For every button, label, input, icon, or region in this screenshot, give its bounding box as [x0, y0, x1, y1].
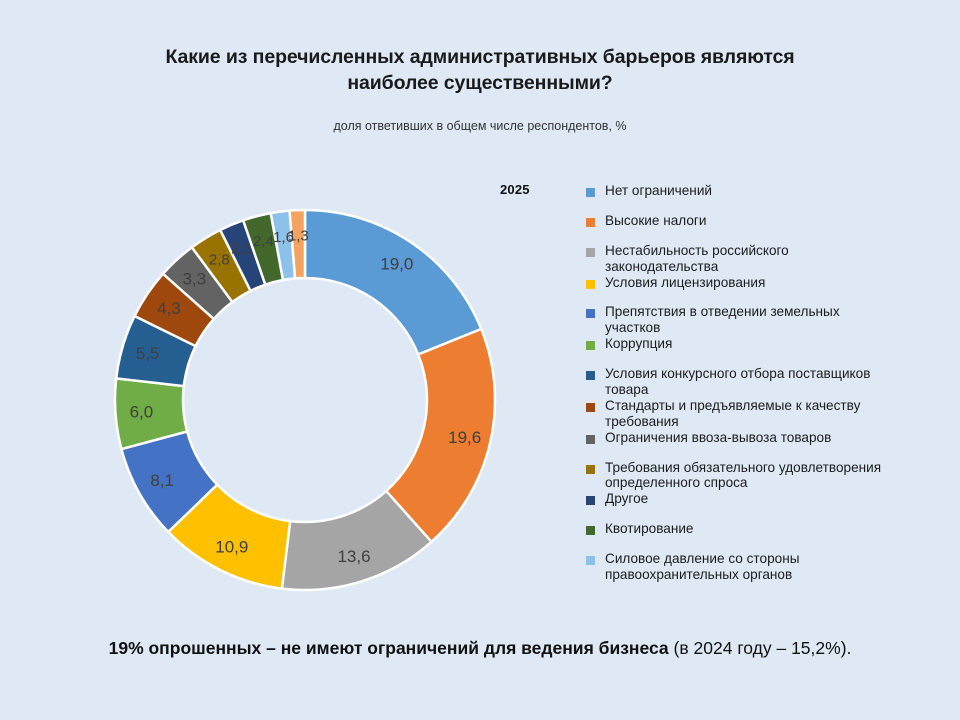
donut-slice-value-label: 6,0	[130, 403, 154, 422]
legend-color-swatch-icon	[586, 465, 595, 474]
legend-color-swatch-icon	[586, 248, 595, 257]
legend-item[interactable]: Стандарты и предъявляемые к качеству тре…	[586, 398, 958, 430]
legend-item-label: Квотирование	[605, 521, 958, 537]
legend-item[interactable]: Нет ограничений	[586, 183, 958, 199]
legend-item[interactable]: Высокие налоги	[586, 213, 958, 229]
donut-slice-value-label: 19,6	[448, 428, 481, 447]
legend-item-label: Коррупция	[605, 336, 958, 352]
legend-item[interactable]: Коррупция	[586, 336, 958, 352]
donut-slice-value-label: 8,1	[150, 471, 174, 490]
legend-color-swatch-icon	[586, 556, 595, 565]
legend-item-label: Другое	[605, 491, 958, 507]
legend-item-label: Силовое давление со стороны правоохранит…	[605, 551, 958, 583]
donut-slice-value-label: 13,6	[337, 547, 370, 566]
donut-slices	[115, 210, 495, 590]
legend-color-swatch-icon	[586, 280, 595, 289]
legend-item-label: Высокие налоги	[605, 213, 958, 229]
legend-color-swatch-icon	[586, 341, 595, 350]
title-block: Какие из перечисленных административных …	[150, 44, 810, 133]
donut-slice-value-label: 2,1	[231, 240, 252, 257]
donut-chart: 19,019,613,610,98,16,05,54,33,32,82,12,4…	[95, 190, 515, 610]
legend-item-label: Требования обязательного удовлетворения …	[605, 460, 958, 492]
legend-color-swatch-icon	[586, 403, 595, 412]
legend-item-label: Условия конкурсного отбора поставщиков т…	[605, 366, 958, 398]
legend-color-swatch-icon	[586, 526, 595, 535]
slide-canvas: Какие из перечисленных административных …	[0, 0, 960, 720]
legend-item[interactable]: Условия лицензирования	[586, 275, 958, 291]
legend-item[interactable]: Другое	[586, 491, 958, 507]
legend-item-label: Нет ограничений	[605, 183, 958, 199]
donut-slice-value-label: 3,3	[182, 270, 206, 289]
legend-item[interactable]: Условия конкурсного отбора поставщиков т…	[586, 366, 958, 398]
legend-item[interactable]: Ограничения ввоза-вывоза товаров	[586, 430, 958, 446]
donut-slice-value-label: 5,5	[136, 344, 160, 363]
donut-slice-value-label: 2,4	[253, 233, 274, 250]
donut-slice-value-label: 4,3	[157, 299, 181, 318]
legend-item-label: Ограничения ввоза-вывоза товаров	[605, 430, 958, 446]
footer-bold-text: 19% опрошенных – не имеют ограничений дл…	[109, 638, 669, 658]
legend-color-swatch-icon	[586, 435, 595, 444]
legend-color-swatch-icon	[586, 371, 595, 380]
legend-item[interactable]: Препятствия в отведении земельных участк…	[586, 304, 958, 336]
chart-subtitle: доля ответивших в общем числе респондент…	[150, 119, 810, 133]
legend-color-swatch-icon	[586, 496, 595, 505]
donut-slice-value-label: 1,3	[288, 228, 309, 245]
footer-normal-text: (в 2024 году – 15,2%).	[669, 638, 852, 658]
legend-item[interactable]: Требования обязательного удовлетворения …	[586, 460, 958, 492]
legend-color-swatch-icon	[586, 309, 595, 318]
donut-slice-value-label: 2,8	[209, 252, 230, 269]
donut-slice[interactable]	[305, 210, 481, 354]
legend-color-swatch-icon	[586, 188, 595, 197]
donut-slice-value-label: 19,0	[380, 255, 413, 274]
legend-item[interactable]: Силовое давление со стороны правоохранит…	[586, 551, 958, 583]
footer-caption: 19% опрошенных – не имеют ограничений дл…	[0, 638, 960, 659]
donut-chart-svg: 19,019,613,610,98,16,05,54,33,32,82,12,4…	[95, 190, 515, 610]
legend-item[interactable]: Нестабильность российского законодательс…	[586, 243, 958, 275]
page-title: Какие из перечисленных административных …	[150, 44, 810, 97]
legend-item-label: Нестабильность российского законодательс…	[605, 243, 958, 275]
legend-color-swatch-icon	[586, 218, 595, 227]
legend-item[interactable]: Квотирование	[586, 521, 958, 537]
legend-item-label: Условия лицензирования	[605, 275, 958, 291]
donut-slice-value-label: 10,9	[215, 537, 248, 556]
legend-item-label: Стандарты и предъявляемые к качеству тре…	[605, 398, 958, 430]
chart-legend: Нет ограниченийВысокие налогиНестабильно…	[586, 183, 958, 583]
legend-item-label: Препятствия в отведении земельных участк…	[605, 304, 958, 336]
